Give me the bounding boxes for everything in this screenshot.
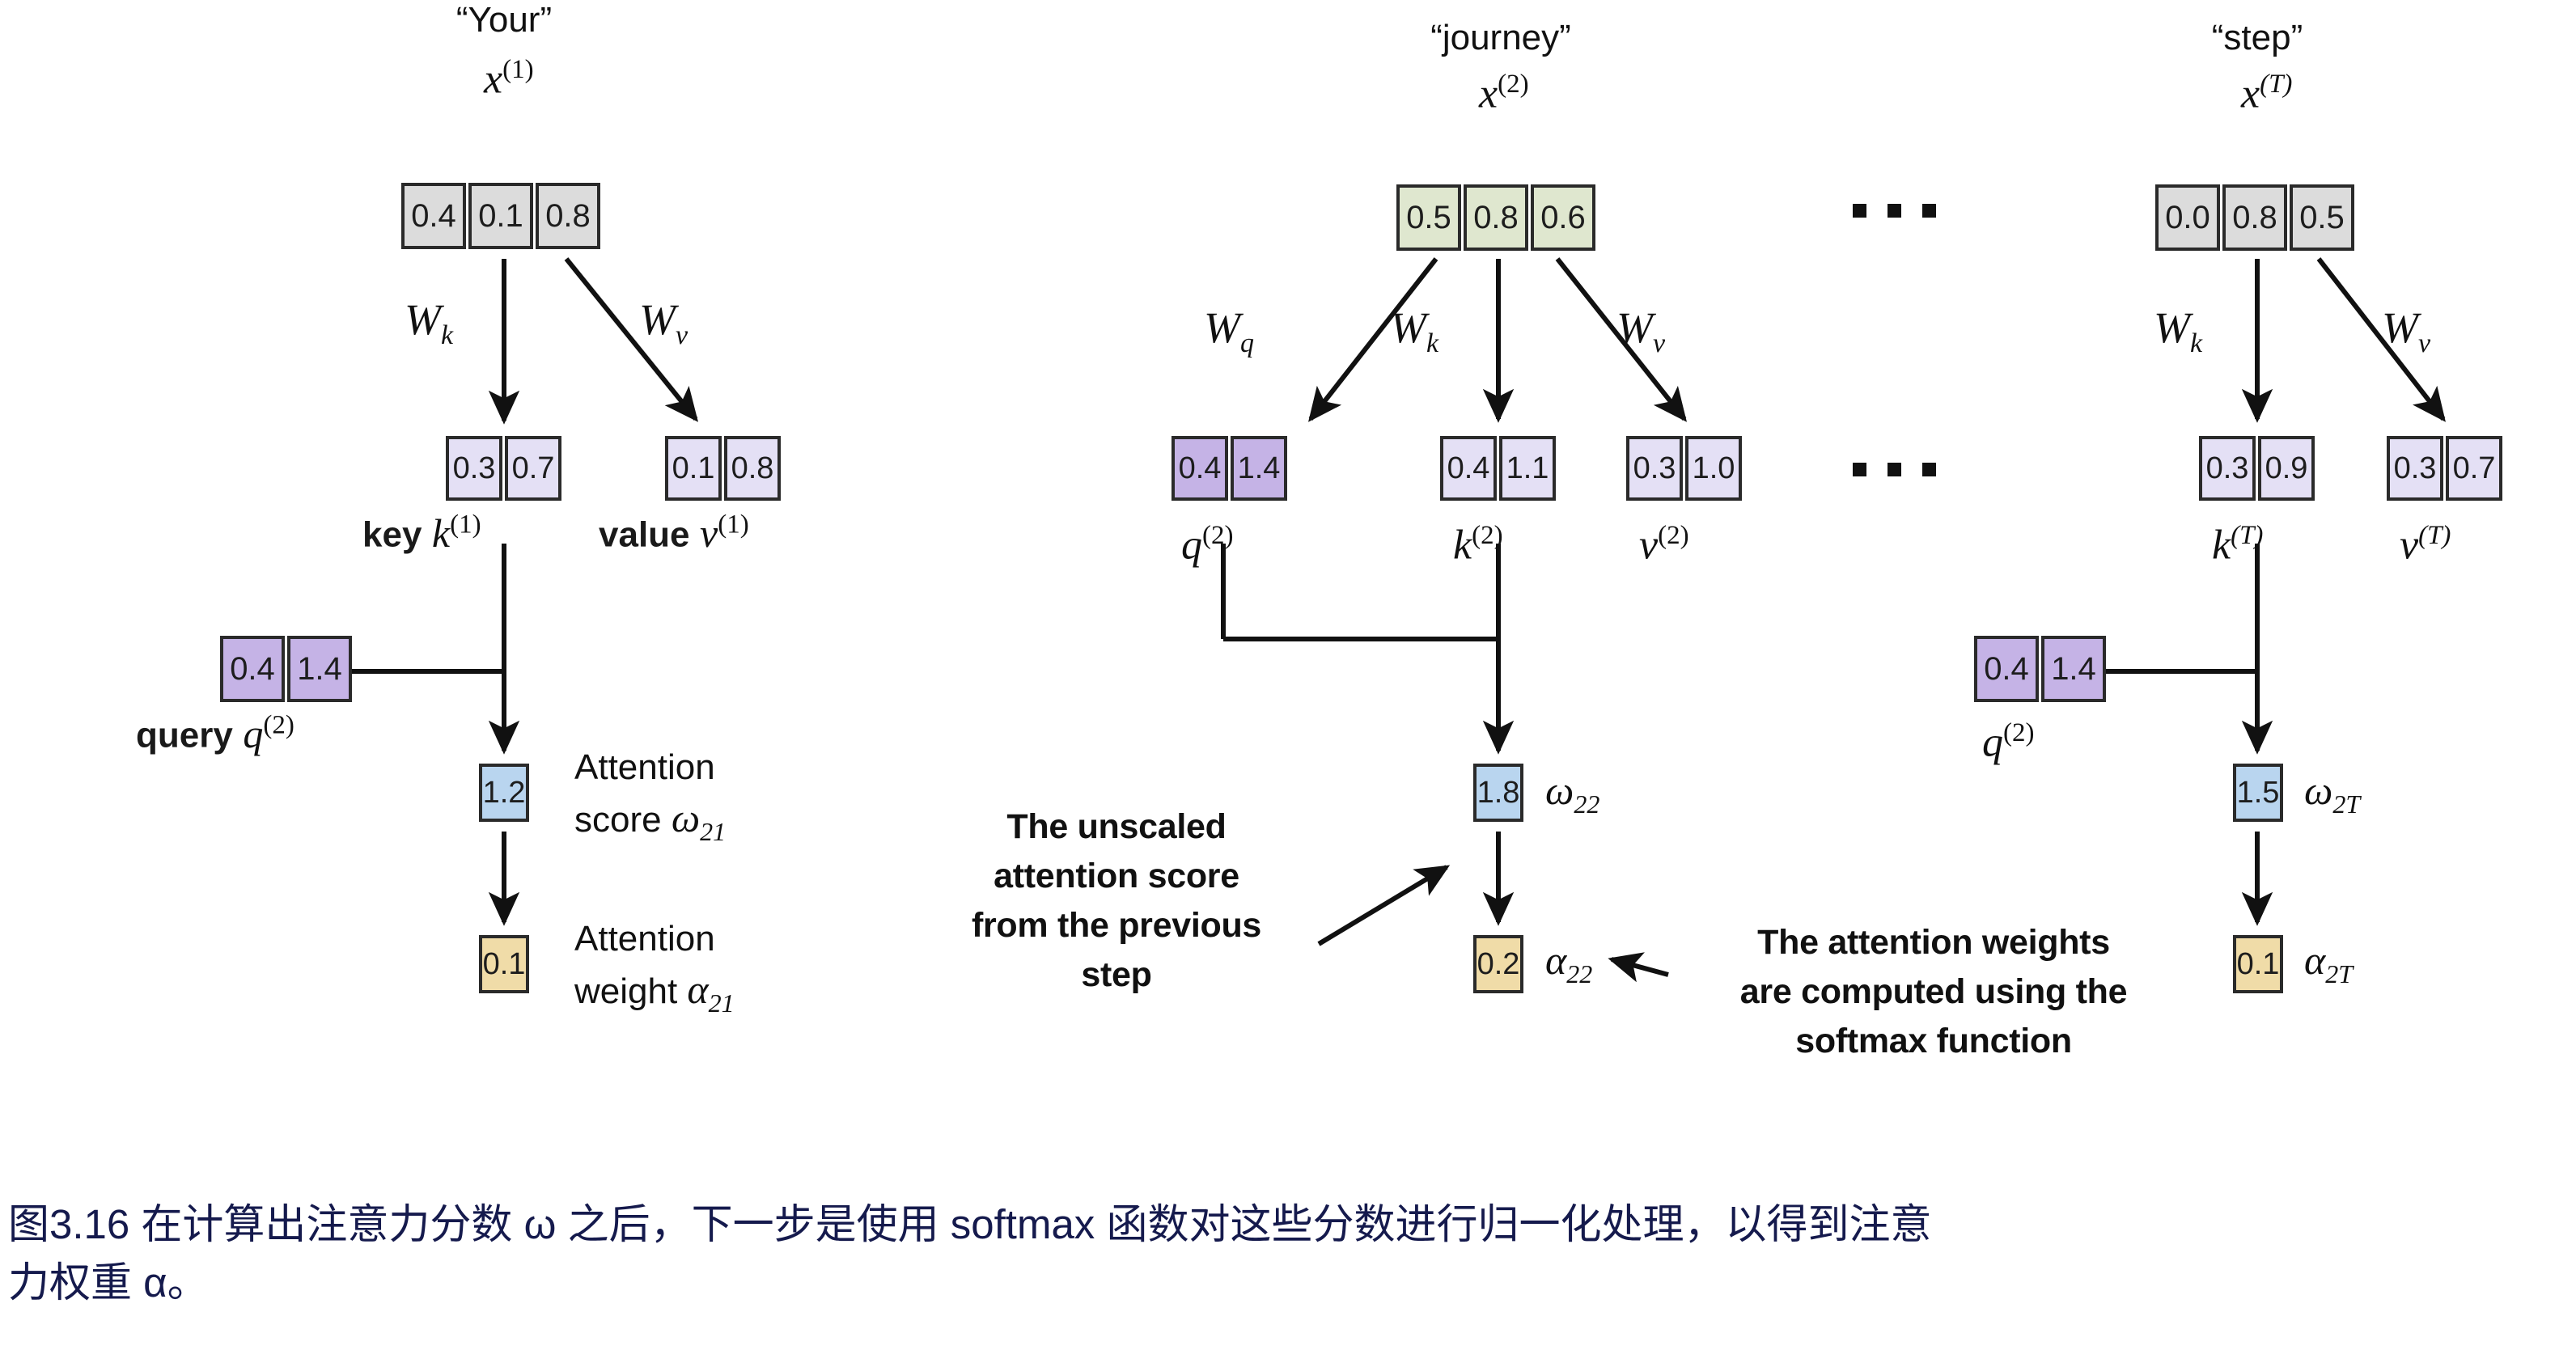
xT-cell-2: 0.5 bbox=[2290, 184, 2354, 251]
wk-base-3: W bbox=[2154, 303, 2190, 352]
unscaled-score-note: The unscaled attention score from the pr… bbox=[914, 802, 1319, 1000]
x1-sup: (1) bbox=[502, 55, 533, 84]
key-vector-1: 0.3 0.7 bbox=[446, 436, 561, 501]
omega2T-value: 1.5 bbox=[2233, 764, 2283, 822]
wq-sub-2: q bbox=[1240, 328, 1254, 358]
query-vector-3: 0.4 1.4 bbox=[1974, 636, 2106, 702]
wv-sub-1: v bbox=[676, 320, 688, 350]
key-vector-2: 0.4 1.1 bbox=[1440, 436, 1556, 501]
omega22-sub: 22 bbox=[1574, 789, 1599, 819]
value-word-1: value bbox=[599, 515, 690, 555]
xT-cell-1: 0.8 bbox=[2222, 184, 2287, 251]
vT-cell-1: 0.7 bbox=[2446, 436, 2502, 501]
score-caption-1: Attention score ω21 bbox=[574, 744, 726, 849]
ellipsis-top-icon bbox=[1853, 204, 1936, 218]
ellipsis-middle-icon bbox=[1853, 463, 1936, 476]
unscaled-note-line4: step bbox=[914, 950, 1319, 1000]
wv-label-1: Wv bbox=[639, 298, 688, 349]
x1-cell-0: 0.4 bbox=[401, 183, 466, 249]
value-vector-3: 0.3 0.7 bbox=[2387, 436, 2502, 501]
softmax-note-line1: The attention weights bbox=[1683, 918, 2184, 967]
softmax-note-line3: softmax function bbox=[1683, 1017, 2184, 1066]
unscaled-note-line3: from the previous bbox=[914, 901, 1319, 950]
omega21-sub: 21 bbox=[700, 817, 726, 846]
value-vector-1: 0.1 0.8 bbox=[665, 436, 781, 501]
q3-base: q bbox=[1982, 719, 2003, 765]
vT-base: v bbox=[2400, 522, 2418, 568]
key-word-1: key bbox=[362, 515, 422, 555]
x1-base: x bbox=[484, 56, 502, 102]
k1-cell-1: 0.7 bbox=[505, 436, 561, 501]
wv-sub-2: v bbox=[1653, 328, 1665, 358]
q2-cell-0: 0.4 bbox=[1171, 436, 1228, 501]
wk-sub-1: k bbox=[441, 320, 453, 350]
unscaled-note-line1: The unscaled bbox=[914, 802, 1319, 852]
k2-sup: (2) bbox=[1472, 521, 1502, 550]
alpha22-label: α22 bbox=[1545, 937, 1592, 989]
kT-cell-1: 0.9 bbox=[2258, 436, 2315, 501]
x2-cell-0: 0.5 bbox=[1396, 184, 1461, 251]
omega2T-label: ω2T bbox=[2304, 767, 2360, 819]
token-word-2: “journey” bbox=[1408, 18, 1594, 58]
k1-base: k bbox=[432, 510, 450, 556]
input-vector-1: 0.4 0.1 0.8 bbox=[401, 183, 600, 249]
score-caption-1-line1: Attention bbox=[574, 744, 726, 791]
xT-label: x(T) bbox=[2241, 71, 2292, 115]
wv-base-2: W bbox=[1616, 303, 1653, 352]
weight-box-1: 0.1 bbox=[479, 935, 529, 993]
x1-label: x(1) bbox=[484, 57, 534, 100]
wv-label-2: Wv bbox=[1616, 306, 1665, 358]
alpha22-symbol: α bbox=[1545, 937, 1566, 983]
k2-cell-1: 1.1 bbox=[1499, 436, 1556, 501]
q2-base: q bbox=[1181, 522, 1202, 568]
softmax-note-line2: are computed using the bbox=[1683, 967, 2184, 1017]
x2-sup: (2) bbox=[1498, 70, 1528, 99]
x2-label: x(2) bbox=[1479, 71, 1529, 115]
k2-label: k(2) bbox=[1453, 523, 1503, 566]
wk-base-1: W bbox=[405, 295, 441, 344]
vT-cell-0: 0.3 bbox=[2387, 436, 2443, 501]
weight-box-2: 0.2 bbox=[1473, 935, 1523, 993]
figure-caption-line2: 力权重 α。 bbox=[8, 1254, 2565, 1312]
weight-box-3: 0.1 bbox=[2233, 935, 2283, 993]
omega21-value: 1.2 bbox=[479, 764, 529, 822]
kT-base: k bbox=[2212, 522, 2231, 568]
input-vector-3: 0.0 0.8 0.5 bbox=[2155, 184, 2354, 251]
xT-base: x bbox=[2241, 70, 2260, 116]
x2-cell-2: 0.6 bbox=[1531, 184, 1595, 251]
query-label-1: query q(2) bbox=[136, 712, 294, 756]
token-word-3: “step” bbox=[2184, 18, 2330, 58]
q3-sup: (2) bbox=[2003, 718, 2034, 747]
value-vector-2: 0.3 1.0 bbox=[1626, 436, 1742, 501]
alpha21-symbol: α bbox=[687, 967, 708, 1012]
q2-label: q(2) bbox=[1181, 523, 1233, 566]
weight-caption-1-line2: weight bbox=[574, 971, 677, 1011]
v2-sup: (2) bbox=[1658, 521, 1688, 550]
v2-cell-0: 0.3 bbox=[1626, 436, 1683, 501]
alpha22-sub: 22 bbox=[1566, 959, 1592, 988]
key-vector-3: 0.3 0.9 bbox=[2199, 436, 2315, 501]
query-vector-2: 0.4 1.4 bbox=[1171, 436, 1287, 501]
score-box-3: 1.5 bbox=[2233, 764, 2283, 822]
q1-sup: (2) bbox=[263, 710, 294, 739]
wk-base-2: W bbox=[1390, 303, 1426, 352]
wk-sub-2: k bbox=[1426, 328, 1438, 358]
v1-sup: (1) bbox=[718, 510, 748, 539]
alpha2T-value: 0.1 bbox=[2233, 935, 2283, 993]
unscaled-note-line2: attention score bbox=[914, 852, 1319, 901]
q3-label: q(2) bbox=[1982, 720, 2034, 764]
wv-sub-3: v bbox=[2418, 328, 2430, 358]
v2-cell-1: 1.0 bbox=[1685, 436, 1742, 501]
k1-sup: (1) bbox=[450, 510, 481, 539]
omega22-value: 1.8 bbox=[1473, 764, 1523, 822]
alpha22-value: 0.2 bbox=[1473, 935, 1523, 993]
kT-sup: (T) bbox=[2231, 521, 2263, 550]
kT-label: k(T) bbox=[2212, 523, 2263, 566]
x1-cell-1: 0.1 bbox=[468, 183, 533, 249]
softmax-note: The attention weights are computed using… bbox=[1683, 918, 2184, 1066]
weight-caption-1: Attention weight α21 bbox=[574, 916, 735, 1020]
omega21-symbol: ω bbox=[672, 795, 700, 840]
wv-base-1: W bbox=[639, 295, 676, 344]
x2-cell-1: 0.8 bbox=[1464, 184, 1528, 251]
xT-sup: (T) bbox=[2260, 70, 2292, 99]
v1-cell-0: 0.1 bbox=[665, 436, 722, 501]
wv-base-3: W bbox=[2382, 303, 2418, 352]
omega22-label: ω22 bbox=[1545, 767, 1599, 819]
figure-canvas: “Your” x(1) 0.4 0.1 0.8 Wk Wv 0.3 0.7 0.… bbox=[0, 0, 2576, 1367]
figure-caption-line1: 图3.16 在计算出注意力分数 ω 之后，下一步是使用 softmax 函数对这… bbox=[8, 1196, 2565, 1254]
value-label-1: value v(1) bbox=[599, 511, 749, 556]
v1-base: v bbox=[700, 510, 718, 556]
wk-sub-3: k bbox=[2190, 328, 2202, 358]
score-box-1: 1.2 bbox=[479, 764, 529, 822]
query-vector-1: 0.4 1.4 bbox=[220, 636, 352, 702]
vT-sup: (T) bbox=[2418, 521, 2451, 550]
vT-label: v(T) bbox=[2400, 523, 2451, 566]
figure-caption: 图3.16 在计算出注意力分数 ω 之后，下一步是使用 softmax 函数对这… bbox=[8, 1196, 2565, 1313]
alpha2T-sub: 2T bbox=[2325, 959, 2353, 988]
omega22-symbol: ω bbox=[1545, 768, 1574, 813]
score-box-2: 1.8 bbox=[1473, 764, 1523, 822]
input-vector-2: 0.5 0.8 0.6 bbox=[1396, 184, 1595, 251]
weight-caption-1-line1: Attention bbox=[574, 916, 735, 963]
wq-base-2: W bbox=[1204, 303, 1240, 352]
alpha21-value: 0.1 bbox=[479, 935, 529, 993]
omega2T-symbol: ω bbox=[2304, 768, 2332, 813]
score-caption-1-line2: score bbox=[574, 800, 662, 840]
q1-cell-0: 0.4 bbox=[220, 636, 285, 702]
wq-label-2: Wq bbox=[1204, 306, 1254, 358]
alpha2T-label: α2T bbox=[2304, 937, 2353, 989]
wv-label-3: Wv bbox=[2382, 306, 2430, 358]
omega2T-sub: 2T bbox=[2332, 789, 2360, 819]
q1-cell-1: 1.4 bbox=[287, 636, 352, 702]
wk-label-2: Wk bbox=[1390, 306, 1438, 358]
q2-sup: (2) bbox=[1202, 521, 1233, 550]
q1-base: q bbox=[243, 711, 263, 756]
alpha21-sub: 21 bbox=[709, 988, 735, 1018]
wk-label-3: Wk bbox=[2154, 306, 2202, 358]
key-label-1: key k(1) bbox=[362, 511, 481, 556]
q3-cell-0: 0.4 bbox=[1974, 636, 2039, 702]
k2-base: k bbox=[1453, 522, 1472, 568]
alpha2T-symbol: α bbox=[2304, 937, 2325, 983]
v2-label: v(2) bbox=[1639, 523, 1689, 566]
x2-base: x bbox=[1479, 70, 1498, 116]
q2-cell-1: 1.4 bbox=[1231, 436, 1287, 501]
x1-cell-2: 0.8 bbox=[536, 183, 600, 249]
kT-cell-0: 0.3 bbox=[2199, 436, 2256, 501]
q3-cell-1: 1.4 bbox=[2041, 636, 2106, 702]
query-word-1: query bbox=[136, 716, 233, 755]
k2-cell-0: 0.4 bbox=[1440, 436, 1497, 501]
wk-label-1: Wk bbox=[405, 298, 453, 349]
xT-cell-0: 0.0 bbox=[2155, 184, 2220, 251]
k1-cell-0: 0.3 bbox=[446, 436, 502, 501]
token-word-1: “Your” bbox=[419, 0, 589, 40]
v1-cell-1: 0.8 bbox=[724, 436, 781, 501]
v2-base: v bbox=[1639, 522, 1658, 568]
